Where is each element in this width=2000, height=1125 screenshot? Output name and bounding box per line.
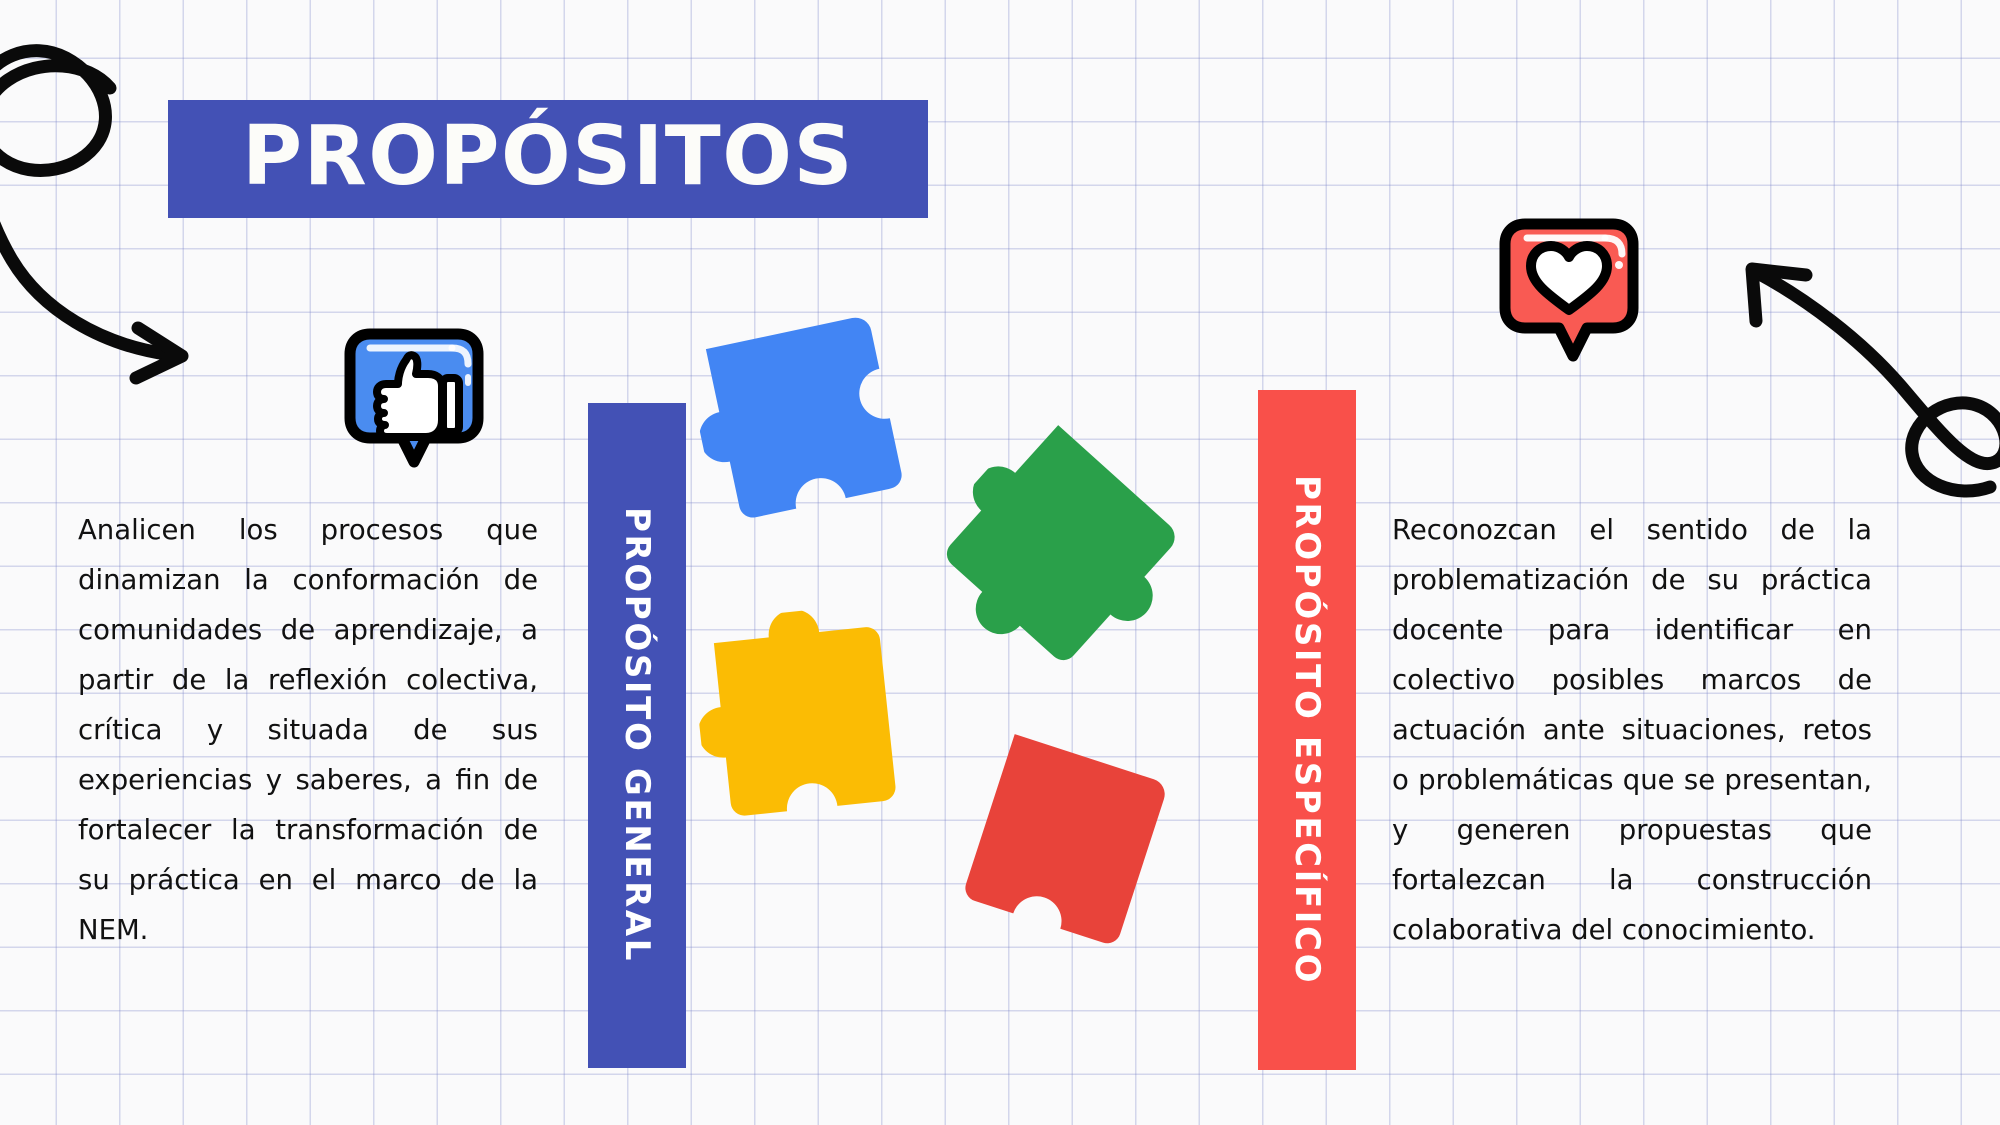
propósito-general-label: PROPÓSITO GENERAL	[617, 507, 657, 963]
page-title: PROPÓSITOS	[242, 116, 854, 198]
propósito-especifico-bar: PROPÓSITO ESPECÍFICO	[1258, 390, 1356, 1070]
page-title-banner: PROPÓSITOS	[168, 100, 928, 218]
thumbs-up-icon	[340, 320, 490, 470]
propósito-general-bar: PROPÓSITO GENERAL	[588, 403, 686, 1068]
puzzle-piece-blue	[679, 284, 952, 557]
propósito-especifico-text: Reconozcan el sentido de la problematiza…	[1392, 505, 1872, 955]
puzzle-piece-yellow	[689, 599, 942, 852]
propósito-general-text: Analicen los procesos que dinamizan la c…	[78, 505, 538, 955]
curly-arrow-right-icon	[1740, 255, 2000, 515]
heart-icon	[1495, 212, 1645, 367]
puzzle-piece-green	[903, 393, 1228, 718]
propósito-especifico-label: PROPÓSITO ESPECÍFICO	[1287, 475, 1327, 985]
slide-canvas: PROPÓSITOS PROPÓSITO GENERAL PROPÓSIT	[0, 0, 2000, 1125]
puzzle-piece-red	[931, 706, 1215, 990]
